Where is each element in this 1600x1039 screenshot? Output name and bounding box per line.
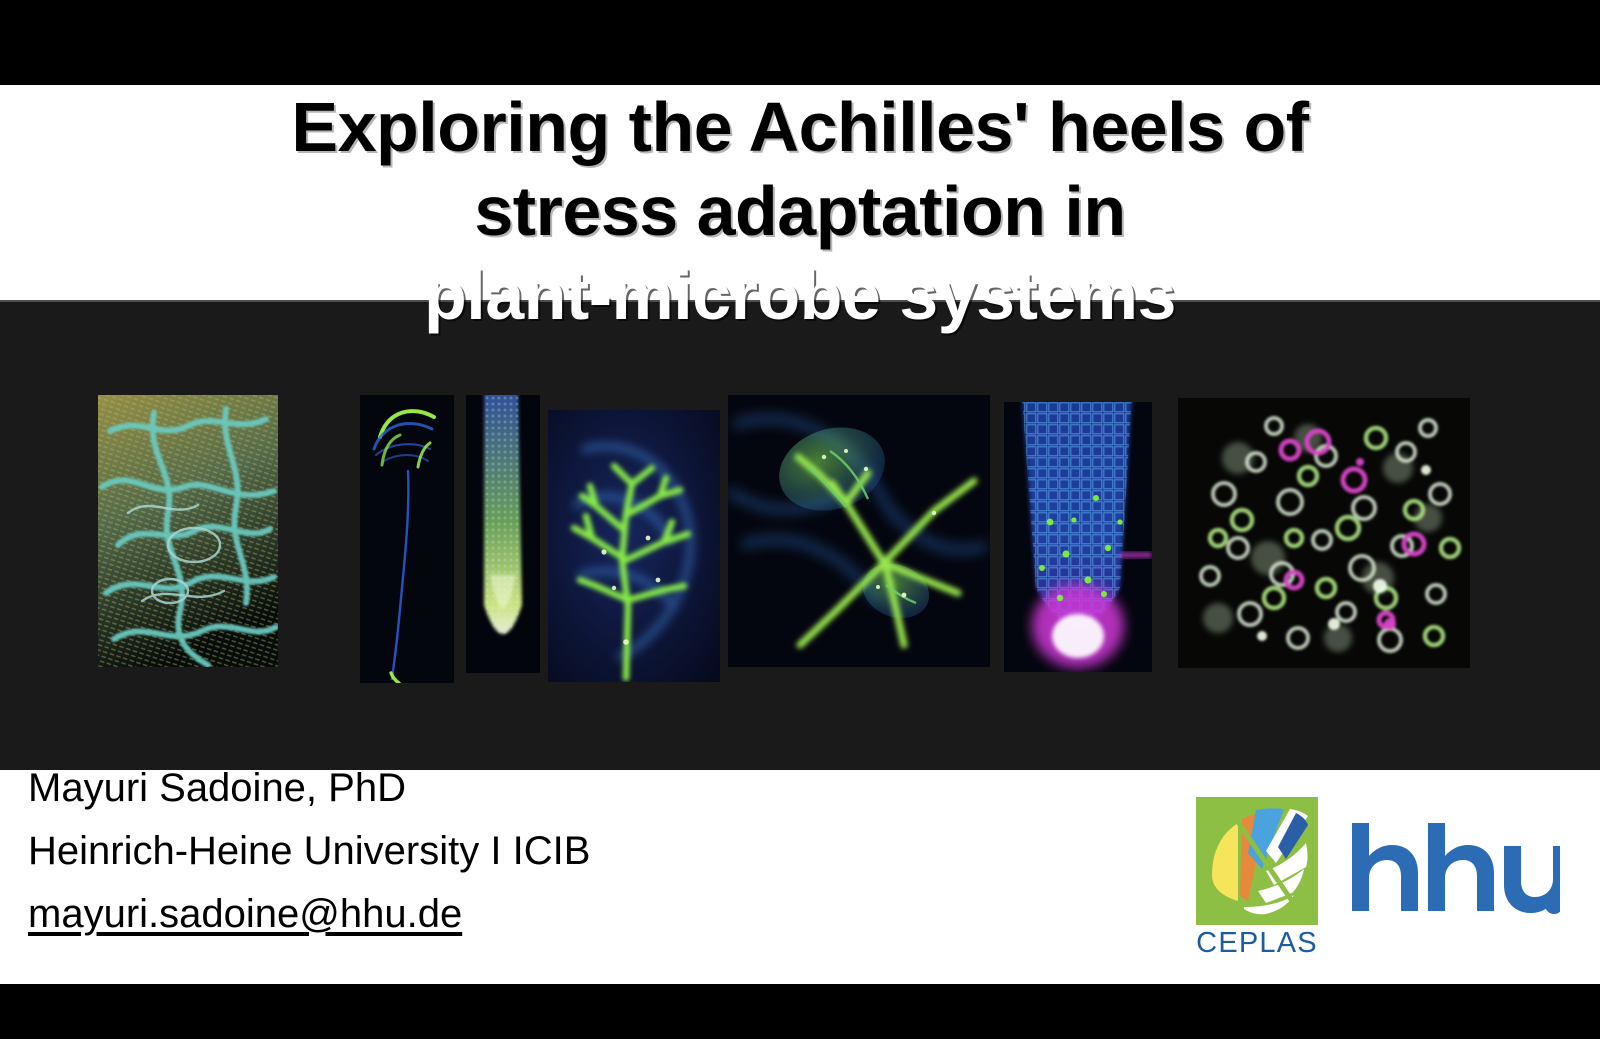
micrograph-arbuscular-mycorrhiza-branching (548, 410, 720, 682)
logo-row: CEPLAS (1196, 797, 1576, 972)
slide-canvas: Exploring the Achilles' heels of stress … (0, 85, 1600, 984)
author-block: Mayuri Sadoine, PhD Heinrich-Heine Unive… (28, 757, 1028, 946)
author-affiliation: Heinrich-Heine University I ICIB (28, 820, 1028, 883)
title-line-2: stress adaptation in (0, 169, 1600, 253)
fungal-hyphae-network-art (98, 395, 278, 667)
letterbox-top (0, 0, 1600, 85)
micrograph-mycorrhizal-vesicles (728, 395, 990, 667)
hhu-wordmark-icon (1348, 819, 1560, 915)
cell-population-art (1178, 398, 1470, 668)
ceplas-logo[interactable]: CEPLAS (1196, 797, 1318, 962)
author-name: Mayuri Sadoine, PhD (28, 757, 1028, 820)
micrograph-seedling-whole-mount (360, 395, 454, 683)
arbuscular-mycorrhiza-art (548, 410, 720, 682)
hhu-logo[interactable] (1348, 819, 1560, 915)
micrograph-strip (0, 302, 1600, 770)
root-tip-magenta-art (1004, 402, 1152, 672)
micrograph-root-tip-longitudinal (466, 395, 540, 673)
author-email-line: mayuri.sadoine@hhu.de (28, 883, 1028, 946)
micrograph-cell-population-spheres (1178, 398, 1470, 668)
letterbox-bottom (0, 984, 1600, 1039)
slide-root: Exploring the Achilles' heels of stress … (0, 0, 1600, 1039)
title-line-1: Exploring the Achilles' heels of (0, 85, 1600, 169)
micrograph-fungal-hyphae-network (98, 395, 278, 667)
root-tip-longitudinal-art (466, 395, 540, 673)
mycorrhizal-vesicles-art (728, 395, 990, 667)
seedling-whole-mount-art (360, 395, 454, 683)
ceplas-wordmark: CEPLAS (1196, 925, 1318, 961)
media-band (0, 300, 1600, 770)
ceplas-leaf-icon (1196, 797, 1318, 925)
author-email-link[interactable]: mayuri.sadoine@hhu.de (28, 883, 462, 946)
micrograph-root-tip-magenta-reporter (1004, 402, 1152, 672)
